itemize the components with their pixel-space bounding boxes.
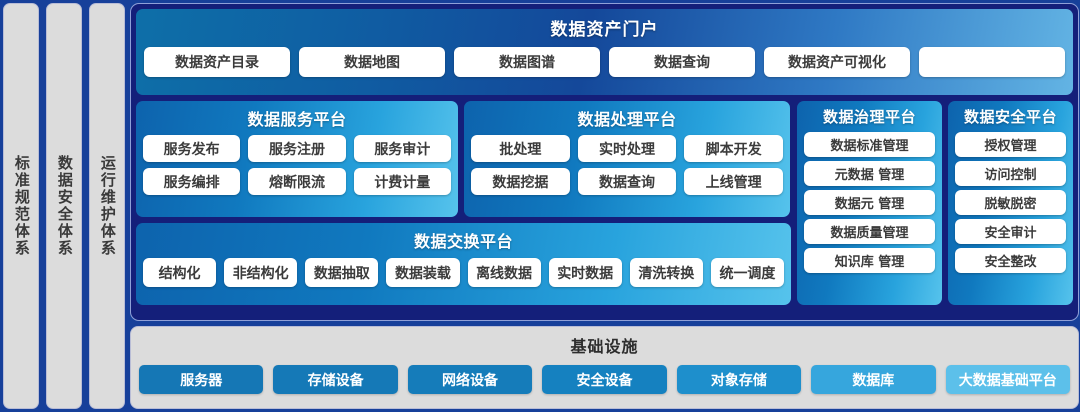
exchange-cleansing[interactable]: 清洗转换	[630, 258, 703, 287]
exchange-offline-data[interactable]: 离线数据	[468, 258, 541, 287]
process-data-query[interactable]: 数据查询	[578, 168, 677, 195]
process-row-2: 数据挖据 数据查询 上线管理	[471, 168, 783, 195]
portal-item-graph[interactable]: 数据图谱	[454, 47, 600, 77]
architecture-diagram: 标准规范体系 数据安全体系 运行维护体系 数据资产门户 数据资产目录 数据地图 …	[0, 0, 1080, 412]
governance-items: 数据标准管理 元数据 管理 数据元 管理 数据质量管理 知识库 管理	[804, 132, 935, 273]
portal-item-catalog[interactable]: 数据资产目录	[144, 47, 290, 77]
pillar-operations: 运行维护体系	[89, 3, 125, 409]
security-items: 授权管理 访问控制 脱敏脱密 安全审计 安全整改	[955, 132, 1066, 273]
pillar-label: 标准规范体系	[13, 155, 29, 257]
portal-band: 数据资产门户 数据资产目录 数据地图 数据图谱 数据查询 数据资产可视化	[136, 9, 1073, 95]
panel-title: 数据安全平台	[964, 106, 1057, 127]
portal-title: 数据资产门户	[551, 15, 659, 40]
security-audit[interactable]: 安全审计	[955, 219, 1066, 244]
process-items: 批处理 实时处理 脚本开发 数据挖据 数据查询 上线管理	[471, 135, 783, 195]
infra-object-storage[interactable]: 对象存储	[677, 365, 801, 394]
governance-data-standard[interactable]: 数据标准管理	[804, 132, 935, 157]
exchange-unstructured[interactable]: 非结构化	[224, 258, 297, 287]
panel-data-governance-platform: 数据治理平台 数据标准管理 元数据 管理 数据元 管理 数据质量管理 知识库 管…	[797, 101, 942, 305]
portal-item-map[interactable]: 数据地图	[299, 47, 445, 77]
service-orchestration[interactable]: 服务编排	[143, 168, 240, 195]
panel-infrastructure: 基础设施 服务器 存储设备 网络设备 安全设备 对象存储 数据库 大数据基础平台	[130, 326, 1079, 409]
infra-bigdata-platform[interactable]: 大数据基础平台	[946, 365, 1070, 394]
platform-shell: 数据资产门户 数据资产目录 数据地图 数据图谱 数据查询 数据资产可视化	[130, 3, 1079, 321]
vertical-pillars: 标准规范体系 数据安全体系 运行维护体系	[0, 0, 125, 412]
service-publish[interactable]: 服务发布	[143, 135, 240, 162]
pillar-label: 数据安全体系	[56, 155, 72, 257]
service-row-2: 服务编排 熔断限流 计费计量	[143, 168, 451, 195]
exchange-realtime-data[interactable]: 实时数据	[549, 258, 622, 287]
infrastructure-title: 基础设施	[570, 333, 638, 357]
platform-region: 数据服务平台 服务发布 服务注册 服务审计 服务编排 熔断限流	[136, 101, 1073, 305]
panel-title: 数据交换平台	[414, 228, 513, 252]
service-audit[interactable]: 服务审计	[354, 135, 451, 162]
infra-network-device[interactable]: 网络设备	[408, 365, 532, 394]
left-platform-stack: 数据服务平台 服务发布 服务注册 服务审计 服务编排 熔断限流	[136, 101, 791, 305]
right-platform-columns: 数据治理平台 数据标准管理 元数据 管理 数据元 管理 数据质量管理 知识库 管…	[797, 101, 1073, 305]
service-billing[interactable]: 计费计量	[354, 168, 451, 195]
service-row-1: 服务发布 服务注册 服务审计	[143, 135, 451, 162]
governance-data-element[interactable]: 数据元 管理	[804, 190, 935, 215]
process-batch[interactable]: 批处理	[471, 135, 570, 162]
process-row-1: 批处理 实时处理 脚本开发	[471, 135, 783, 162]
security-rectification[interactable]: 安全整改	[955, 248, 1066, 273]
process-data-mining[interactable]: 数据挖据	[471, 168, 570, 195]
infrastructure-items: 服务器 存储设备 网络设备 安全设备 对象存储 数据库 大数据基础平台	[139, 365, 1070, 394]
governance-metadata[interactable]: 元数据 管理	[804, 161, 935, 186]
infra-database[interactable]: 数据库	[811, 365, 935, 394]
service-circuit-breaker[interactable]: 熔断限流	[248, 168, 345, 195]
infra-server[interactable]: 服务器	[139, 365, 263, 394]
process-realtime[interactable]: 实时处理	[578, 135, 677, 162]
panel-data-service-platform: 数据服务平台 服务发布 服务注册 服务审计 服务编排 熔断限流	[136, 101, 458, 217]
process-release-mgmt[interactable]: 上线管理	[684, 168, 783, 195]
pillar-standards: 标准规范体系	[3, 3, 39, 409]
process-script-dev[interactable]: 脚本开发	[684, 135, 783, 162]
portal-item-query[interactable]: 数据查询	[609, 47, 755, 77]
exchange-scheduling[interactable]: 统一调度	[711, 258, 784, 287]
service-items: 服务发布 服务注册 服务审计 服务编排 熔断限流 计费计量	[143, 135, 451, 195]
governance-data-quality[interactable]: 数据质量管理	[804, 219, 935, 244]
panel-data-exchange-platform: 数据交换平台 结构化 非结构化 数据抽取 数据装载 离线数据 实时数据 清洗转换…	[136, 223, 791, 305]
exchange-extract[interactable]: 数据抽取	[305, 258, 378, 287]
panel-title: 数据服务平台	[247, 106, 346, 130]
pillar-label: 运行维护体系	[99, 155, 115, 257]
security-access-control[interactable]: 访问控制	[955, 161, 1066, 186]
panel-title: 数据治理平台	[823, 106, 916, 127]
security-authorization[interactable]: 授权管理	[955, 132, 1066, 157]
pillar-data-security: 数据安全体系	[46, 3, 82, 409]
service-register[interactable]: 服务注册	[248, 135, 345, 162]
infra-security-device[interactable]: 安全设备	[542, 365, 666, 394]
portal-item-empty[interactable]	[919, 47, 1065, 77]
exchange-load[interactable]: 数据装载	[386, 258, 459, 287]
exchange-structured[interactable]: 结构化	[143, 258, 216, 287]
panel-data-security-platform: 数据安全平台 授权管理 访问控制 脱敏脱密 安全审计 安全整改	[948, 101, 1073, 305]
exchange-items: 结构化 非结构化 数据抽取 数据装载 离线数据 实时数据 清洗转换 统一调度	[143, 258, 784, 287]
infra-storage-device[interactable]: 存储设备	[273, 365, 397, 394]
security-desensitization[interactable]: 脱敏脱密	[955, 190, 1066, 215]
platform-row-upper: 数据服务平台 服务发布 服务注册 服务审计 服务编排 熔断限流	[136, 101, 791, 217]
portal-item-visualization[interactable]: 数据资产可视化	[764, 47, 910, 77]
panel-data-processing-platform: 数据处理平台 批处理 实时处理 脚本开发 数据挖据 数据查询	[464, 101, 790, 217]
governance-knowledge-base[interactable]: 知识库 管理	[804, 248, 935, 273]
main-column: 数据资产门户 数据资产目录 数据地图 数据图谱 数据查询 数据资产可视化	[125, 0, 1080, 412]
panel-title: 数据处理平台	[577, 106, 676, 130]
portal-items: 数据资产目录 数据地图 数据图谱 数据查询 数据资产可视化	[144, 47, 1065, 77]
